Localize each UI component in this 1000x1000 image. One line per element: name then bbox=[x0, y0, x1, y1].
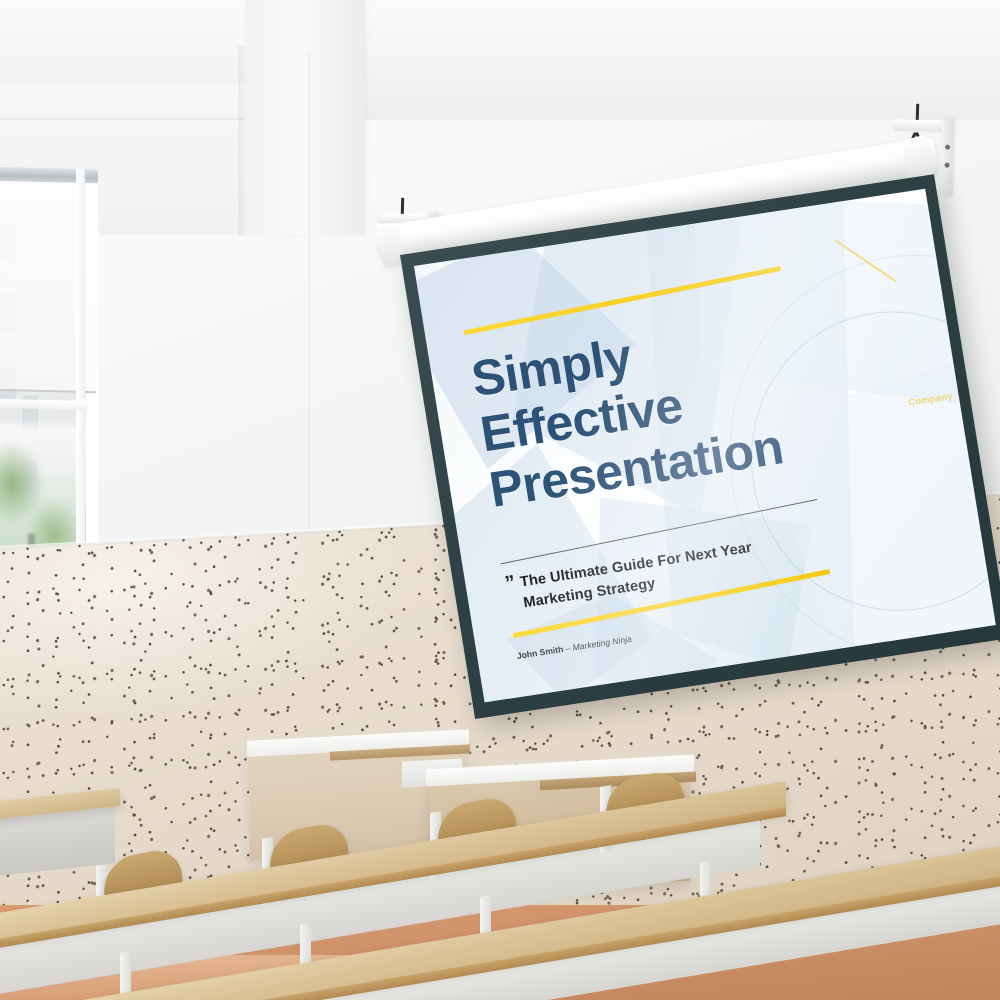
presentation-slide[interactable]: Company Simply Effective Presentation ” … bbox=[414, 189, 996, 703]
classroom-scene: Company Simply Effective Presentation ” … bbox=[0, 0, 1000, 1000]
bracket-bolt-icon bbox=[945, 163, 950, 168]
projector-screen[interactable]: Company Simply Effective Presentation ” … bbox=[400, 174, 1000, 719]
bracket-arm-vertical bbox=[940, 118, 954, 196]
quote-mark-icon: ” bbox=[504, 575, 515, 593]
